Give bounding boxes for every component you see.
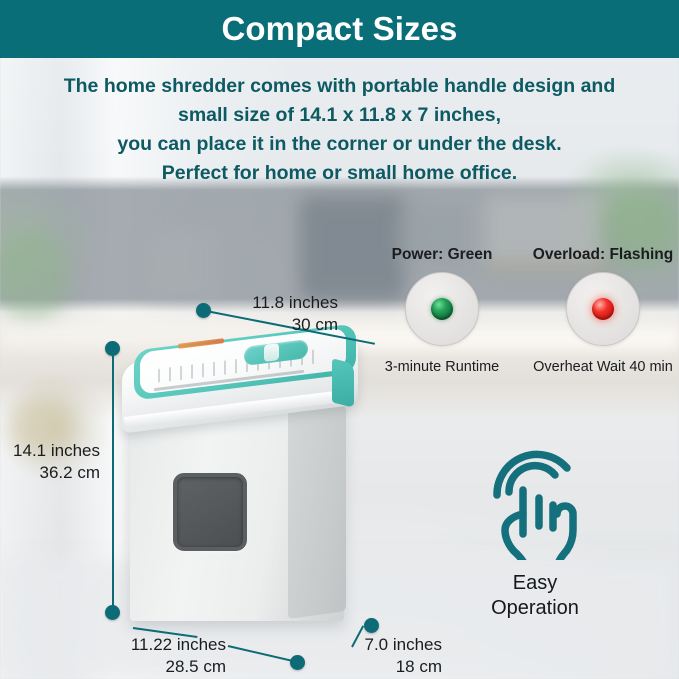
intro-paragraph: The home shredder comes with portable ha… xyxy=(0,72,679,188)
callout-depth-right-metric: 18 cm xyxy=(330,656,442,678)
indicator-power: Power: Green 3-minute Runtime xyxy=(368,246,516,375)
callout-width-top-inches: 11.8 inches xyxy=(198,292,338,314)
shredder-bin-side xyxy=(288,405,346,619)
feature-easy-operation-label: Easy Operation xyxy=(470,571,600,621)
callout-width-bottom-inches: 11.22 inches xyxy=(100,634,226,656)
shredder-slider-knob xyxy=(264,343,279,362)
indicator-power-bezel xyxy=(405,272,479,346)
shredder-side-accent xyxy=(332,358,354,407)
callout-depth-right: 7.0 inches 18 cm xyxy=(330,634,442,678)
touch-hand-icon xyxy=(483,448,587,560)
callout-width-bottom-metric: 28.5 cm xyxy=(100,656,226,678)
feature-label-line-1: Easy xyxy=(470,571,600,596)
feature-easy-operation: Easy Operation xyxy=(470,448,600,621)
header-banner: Compact Sizes xyxy=(0,0,679,58)
indicator-overload-bezel xyxy=(566,272,640,346)
intro-line-4: Perfect for home or small home office. xyxy=(0,159,679,188)
infographic-canvas: Compact Sizes The home shredder comes wi… xyxy=(0,0,679,679)
callout-width-bottom: 11.22 inches 28.5 cm xyxy=(100,634,226,678)
callout-height-left-inches: 14.1 inches xyxy=(0,440,100,462)
leader-line-height-left xyxy=(112,352,114,614)
indicator-overload-title: Overload: Flashing xyxy=(529,246,677,264)
intro-line-3: you can place it in the corner or under … xyxy=(0,130,679,159)
dot-width-bottom-end xyxy=(290,655,305,670)
intro-line-2: small size of 14.1 x 11.8 x 7 inches, xyxy=(0,101,679,130)
dot-width-bottom xyxy=(105,605,120,620)
callout-height-left: 14.1 inches 36.2 cm xyxy=(0,440,100,484)
callout-width-top: 11.8 inches 30 cm xyxy=(198,292,338,336)
shredder-view-window xyxy=(173,473,247,551)
indicator-overload: Overload: Flashing Overheat Wait 40 min xyxy=(529,246,677,375)
callout-depth-right-inches: 7.0 inches xyxy=(330,634,442,656)
power-led-icon xyxy=(431,298,453,320)
background-chair xyxy=(150,228,220,298)
intro-line-1: The home shredder comes with portable ha… xyxy=(0,72,679,101)
indicator-power-subtext: 3-minute Runtime xyxy=(368,359,516,375)
feature-label-line-2: Operation xyxy=(470,596,600,621)
overload-led-icon xyxy=(592,298,614,320)
dot-depth-right xyxy=(364,618,379,633)
page-title: Compact Sizes xyxy=(221,10,457,48)
paper-shredder-product xyxy=(118,325,380,625)
callout-width-top-metric: 30 cm xyxy=(198,314,338,336)
indicator-power-title: Power: Green xyxy=(368,246,516,264)
callout-height-left-metric: 36.2 cm xyxy=(0,462,100,484)
indicator-overload-subtext: Overheat Wait 40 min xyxy=(529,359,677,375)
